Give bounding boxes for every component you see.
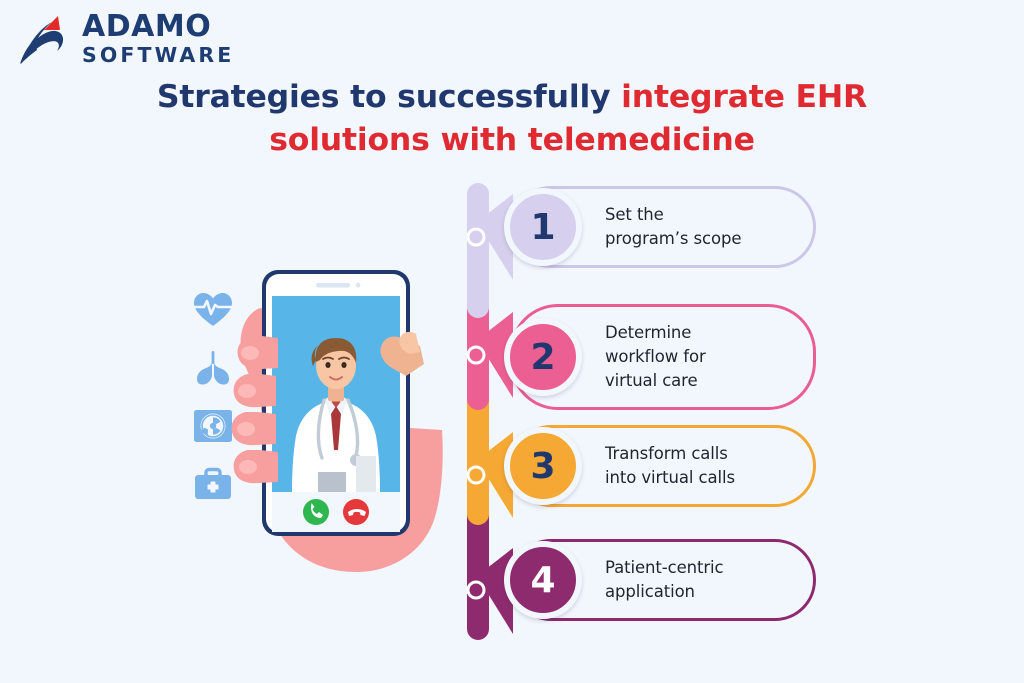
step-number-badge-3[interactable]: 3	[504, 427, 582, 505]
step-label-3: Transform calls into virtual calls	[605, 442, 735, 490]
telemedicine-illustration	[150, 250, 470, 650]
step-number-4: 4	[530, 560, 555, 601]
title-part-navy: Strategies to successfully	[157, 79, 621, 115]
brand-name-primary: ADAMO	[82, 12, 234, 42]
step-number-3: 3	[530, 446, 555, 487]
adamo-swoosh-logo-icon	[14, 10, 72, 68]
step-number-2: 2	[530, 337, 555, 378]
step-label-1: Set the program’s scope	[605, 203, 741, 251]
step-number-badge-2[interactable]: 2	[504, 318, 582, 396]
step-number-badge-4[interactable]: 4	[504, 541, 582, 619]
steps-list: Set the program’s scope 1 Determine work…	[462, 186, 834, 656]
answer-call-button	[303, 499, 329, 525]
brand-name-secondary: SOFTWARE	[82, 45, 234, 66]
infographic-canvas: ADAMO SOFTWARE Strategies to successfull…	[0, 0, 1024, 683]
page-title: Strategies to successfully integrate EHR…	[112, 76, 912, 162]
smartphone-graphic	[262, 270, 410, 536]
brand-logo: ADAMO SOFTWARE	[14, 8, 274, 70]
title-part-red-2: solutions with telemedicine	[269, 122, 755, 158]
title-part-red-1: integrate EHR	[621, 79, 867, 115]
step-number-1: 1	[530, 207, 555, 248]
decline-call-button	[343, 499, 369, 525]
step-label-4: Patient-centric application	[605, 556, 724, 604]
step-label-2: Determine workflow for virtual care	[605, 321, 706, 393]
step-number-badge-1[interactable]: 1	[504, 188, 582, 266]
